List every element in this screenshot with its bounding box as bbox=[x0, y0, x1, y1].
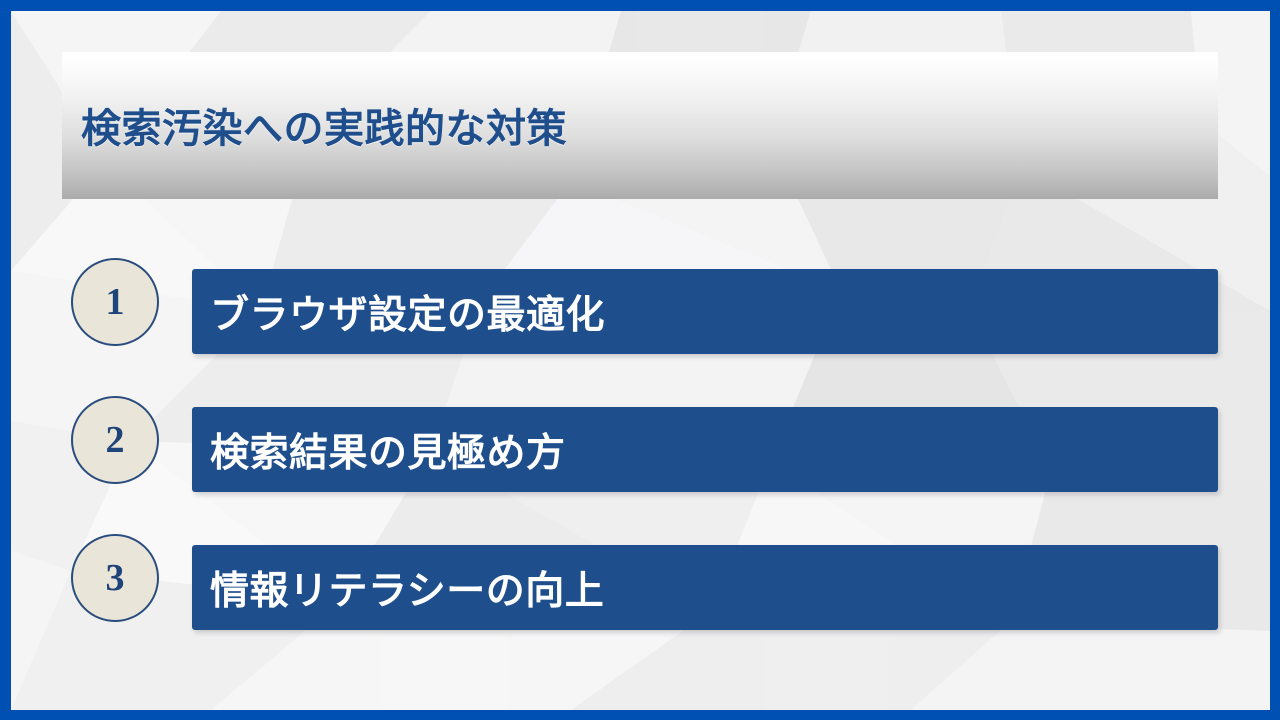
step-number-label: 2 bbox=[73, 398, 157, 482]
slide-content-area: 検索汚染への実践的な対策 1 ブラウザ設定の最適化 2 検索結果の見極め方 3 bbox=[11, 11, 1270, 710]
step-bar[interactable]: 情報リテラシーの向上 bbox=[192, 545, 1218, 630]
page-title: 検索汚染への実践的な対策 bbox=[81, 96, 567, 154]
step-bar[interactable]: 検索結果の見極め方 bbox=[192, 407, 1218, 492]
list-item: 2 検索結果の見極め方 bbox=[11, 394, 1270, 486]
step-label: 情報リテラシーの向上 bbox=[210, 560, 604, 616]
step-number-badge: 3 bbox=[71, 534, 159, 622]
step-bar[interactable]: ブラウザ設定の最適化 bbox=[192, 269, 1218, 354]
step-number-badge: 2 bbox=[71, 396, 159, 484]
list-item: 3 情報リテラシーの向上 bbox=[11, 532, 1270, 624]
step-number-label: 1 bbox=[73, 260, 157, 344]
list-item: 1 ブラウザ設定の最適化 bbox=[11, 256, 1270, 348]
step-number-badge: 1 bbox=[71, 258, 159, 346]
title-plate: 検索汚染への実践的な対策 bbox=[62, 52, 1218, 199]
step-number-label: 3 bbox=[73, 536, 157, 620]
slide-canvas: 検索汚染への実践的な対策 1 ブラウザ設定の最適化 2 検索結果の見極め方 3 bbox=[0, 0, 1280, 720]
step-label: ブラウザ設定の最適化 bbox=[210, 284, 605, 340]
step-label: 検索結果の見極め方 bbox=[210, 422, 566, 478]
